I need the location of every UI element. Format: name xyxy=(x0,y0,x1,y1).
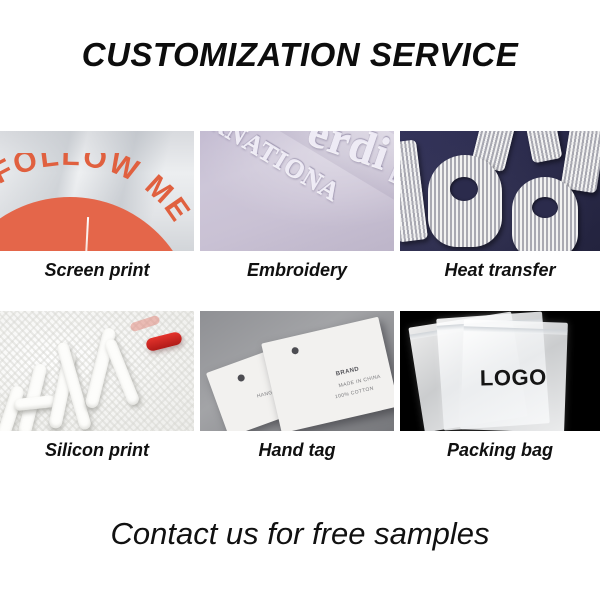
caption-screen-print: Screen print xyxy=(0,251,194,281)
packing-bag-logo-text: LOGO xyxy=(480,364,547,391)
service-gallery: N'T FOLLOW ME Screen print ERNATIONA erd… xyxy=(0,131,600,491)
heat-transfer-photo xyxy=(400,131,600,251)
caption-heat-transfer: Heat transfer xyxy=(400,251,600,281)
packing-bag-photo: LOGO xyxy=(400,311,600,431)
arc-text-artwork: N'T FOLLOW ME xyxy=(0,153,194,251)
caption-hand-tag: Hand tag xyxy=(200,431,394,461)
footer-cta-text: Contact us for free samples xyxy=(0,516,600,552)
service-card-heat-transfer[interactable]: Heat transfer xyxy=(400,131,600,281)
service-card-hand-tag[interactable]: HANG TAG BRAND MADE IN CHINA 100% COTTON… xyxy=(200,311,394,461)
ribbed-glyph-bar-3 xyxy=(524,131,563,163)
service-card-embroidery[interactable]: ERNATIONA erdi LTD Embroidery xyxy=(200,131,394,281)
ribbed-glyph-nine-2 xyxy=(512,177,578,251)
page-title: CUSTOMIZATION SERVICE xyxy=(0,36,600,74)
ribbed-glyph-nine-1 xyxy=(428,155,502,247)
hang-tag-front: BRAND MADE IN CHINA 100% COTTON xyxy=(261,317,394,431)
glyph-counter-hole xyxy=(532,197,558,218)
gallery-row-2: Silicon print HANG TAG BRAND MADE IN CHI… xyxy=(0,311,600,491)
caption-silicon-print: Silicon print xyxy=(0,431,194,461)
embroidery-photo: ERNATIONA erdi LTD xyxy=(200,131,394,251)
glyph-counter-hole xyxy=(450,177,478,201)
caption-packing-bag: Packing bag xyxy=(400,431,600,461)
customization-service-banner: CUSTOMIZATION SERVICE N'T xyxy=(0,0,600,601)
screen-print-artwork-text: N'T FOLLOW ME xyxy=(0,153,194,235)
hand-tag-photo: HANG TAG BRAND MADE IN CHINA 100% COTTON xyxy=(200,311,394,431)
service-card-silicon-print[interactable]: Silicon print xyxy=(0,311,194,461)
packing-bag-front: LOGO xyxy=(460,319,568,431)
hang-tag-hole xyxy=(237,373,246,382)
hang-tag-brand-text: BRAND xyxy=(335,366,359,377)
gallery-row-1: N'T FOLLOW ME Screen print ERNATIONA erd… xyxy=(0,131,600,311)
service-card-packing-bag[interactable]: LOGO Packing bag xyxy=(400,311,600,461)
service-card-screen-print[interactable]: N'T FOLLOW ME Screen print xyxy=(0,131,194,281)
svg-text:N'T FOLLOW ME: N'T FOLLOW ME xyxy=(0,153,194,235)
screen-print-photo: N'T FOLLOW ME xyxy=(0,131,194,251)
caption-embroidery: Embroidery xyxy=(200,251,394,281)
silicon-print-photo xyxy=(0,311,194,431)
ribbed-glyph-bar-1 xyxy=(400,140,428,243)
bag-seal-strip xyxy=(464,326,568,335)
hang-tag-origin-text: MADE IN CHINA xyxy=(338,374,381,390)
hang-tag-hole xyxy=(291,347,299,355)
